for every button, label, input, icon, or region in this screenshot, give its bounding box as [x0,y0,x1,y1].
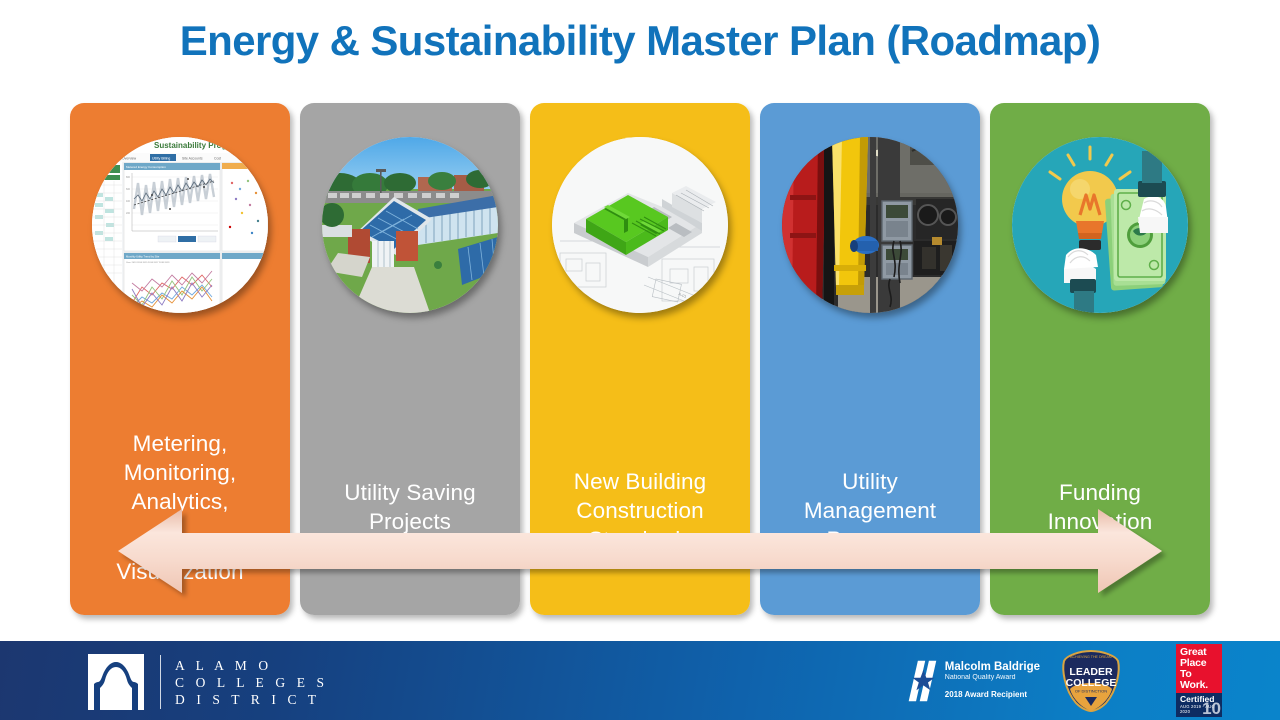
svg-text:Year: 2013 2014 2015 2016 2017: Year: 2013 2014 2015 2016 2017 2018 2019 [126,261,170,264]
leader-college-badge: ACHIEVING THE DREAM LEADER COLLEGE OF DI… [1043,641,1139,720]
roadmap-card-row: Sustainability Prog OverviewUtility Bill… [70,103,1210,615]
bim-building-model-photo: A-01 [552,137,728,313]
gptw-navy-panel: Certified AUG 2019 - AUG 2020 10 [1176,693,1222,717]
card-label-line-3: Program [827,527,914,552]
roadmap-card-label: Metering, Monitoring, Analytics, and Vis… [76,430,284,587]
roadmap-card-utility-management[interactable]: Utility Management Program [760,103,980,615]
logo-line-district: D I S T R I C T [175,691,328,708]
logo-divider [160,655,161,709]
roadmap-card-label: Funding Innovation [996,479,1204,537]
roadmap-card-metering[interactable]: Sustainability Prog OverviewUtility Bill… [70,103,290,615]
svg-text:Metered Energy Consumption: Metered Energy Consumption [126,165,166,169]
card-label-line-1: Funding [1059,480,1141,505]
great-place-to-work-badge: Great Place To Work. Certified AUG 2019 … [1168,641,1230,720]
svg-text:600: 600 [126,188,131,191]
card-label-line-1: Utility Saving [344,480,475,505]
slide-footer: A L A M O C O L L E G E S D I S T R I C … [0,641,1280,720]
gptw-line-4: Work. [1180,680,1218,691]
gptw-anniversary-mark: 10 [1202,700,1221,717]
card-label-line-2: Innovation [1048,509,1153,534]
leader-top-text: ACHIEVING THE DREAM [1070,655,1112,659]
baldrige-line-2: National Quality Award [945,673,1040,682]
baldrige-line-3: 2018 Award Recipient [945,690,1040,700]
roadmap-card-label: Utility Saving Projects [306,479,514,537]
leader-line-2: COLLEGE [1066,677,1117,689]
solar-building-photo [322,137,498,313]
slide-canvas: Energy & Sustainability Master Plan (Roa… [0,0,1280,720]
card-label-line-3: Standards [588,527,691,552]
svg-text:Overview: Overview [122,156,137,160]
card-label-line-3: Analytics, [131,489,228,514]
roadmap-card-funding-innovation[interactable]: Funding Innovation [990,103,1210,615]
svg-text:Monthly Utility Trend by Site: Monthly Utility Trend by Site [126,255,160,259]
svg-text:Cost: Cost [214,156,221,160]
baldrige-star-icon [905,655,942,707]
sustainability-dashboard-photo: Sustainability Prog OverviewUtility Bill… [92,137,268,313]
card-label-line-2: Monitoring, [124,460,236,485]
malcolm-baldrige-award-badge: Malcolm Baldrige National Quality Award … [905,641,1040,720]
svg-text:Site Accounts: Site Accounts [182,156,203,160]
baldrige-line-1: Malcolm Baldrige [945,661,1040,673]
mechanical-room-photo [782,137,958,313]
page-title: Energy & Sustainability Master Plan (Roa… [0,17,1280,65]
svg-text:400: 400 [126,200,131,203]
alamo-chapel-icon [88,654,144,710]
logo-line-alamo: A L A M O [175,657,328,674]
card-label-line-5: Visualization [116,559,243,584]
roadmap-card-label: Utility Management Program [766,468,974,554]
alamo-colleges-district-logo: A L A M O C O L L E G E S D I S T R I C … [88,654,328,710]
roadmap-card-new-building[interactable]: A-01 New Building Construction Standards [530,103,750,615]
funding-innovation-illustration [1012,137,1188,313]
svg-text:3.75: 3.75 [95,168,105,174]
svg-text:200: 200 [126,212,131,215]
card-label-line-2: Management [804,498,936,523]
card-label-line-1: Utility [842,469,898,494]
card-label-line-1: New Building [574,469,707,494]
card-label-line-2: Construction [576,498,704,523]
svg-text:Utility Billing: Utility Billing [152,156,170,160]
card-label-line-4: and [161,530,199,555]
card-label-line-1: Metering, [133,431,228,456]
roadmap-card-utility-saving[interactable]: Utility Saving Projects [300,103,520,615]
card-label-line-2: Projects [369,509,451,534]
gptw-red-panel: Great Place To Work. [1176,644,1222,693]
roadmap-card-label: New Building Construction Standards [536,468,744,554]
alamo-logo-wordmark: A L A M O C O L L E G E S D I S T R I C … [175,657,328,708]
leader-line-3: OF DISTINCTION [1075,688,1107,693]
logo-line-colleges: C O L L E G E S [175,674,328,691]
svg-text:800: 800 [126,176,131,179]
svg-text:Sustainability Prog: Sustainability Prog [154,141,227,150]
